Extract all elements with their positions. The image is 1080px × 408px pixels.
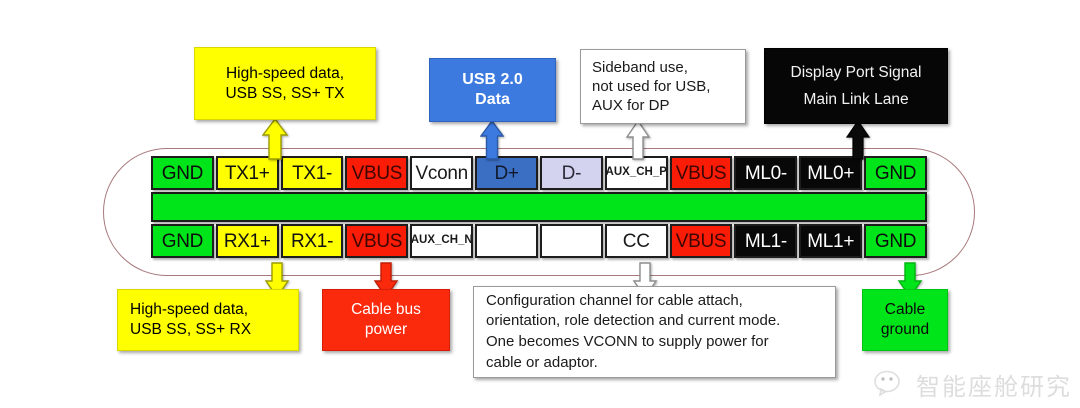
diagram-canvas: High-speed data, USB SS, SS+ TX USB 2.0 … [0,0,1080,408]
pin-cell: GND [151,224,214,258]
pin-cell: ML0- [734,156,797,190]
callout-displayport-main-link: Display Port Signal Main Link Lane [764,48,948,124]
pin-cell: RX1- [281,224,344,258]
pin-cell: Vconn [410,156,473,190]
callout-cable-bus-power: Cable bus power [322,289,450,351]
connector-shield-bar [151,192,927,222]
pin-cell: VBUS [345,156,408,190]
pin-row-bottom: GNDRX1+RX1-VBUSAUX_CH_NCCVBUSML1-ML1+GND [151,224,927,258]
callout-high-speed-tx: High-speed data, USB SS, SS+ TX [194,47,376,120]
wechat-icon [874,370,908,400]
callout-line: Display Port Signal [791,63,922,83]
callout-line: Main Link Lane [803,90,908,110]
pin-cell: D+ [475,156,538,190]
callout-line: High-speed data, [226,64,344,84]
callout-high-speed-rx: High-speed data, USB SS, SS+ RX [117,289,299,351]
pin-cell: AUX_CH_N [410,224,473,258]
callout-line: AUX for DP [592,96,670,115]
callout-line: Configuration channel for cable attach, [486,291,743,312]
pin-cell: ML0+ [799,156,862,190]
callout-line: Cable bus [351,300,421,320]
callout-line: Cable [885,300,926,320]
pin-cell: VBUS [670,156,733,190]
watermark: 智能座舱研究 [874,367,1072,402]
pin-cell [475,224,538,258]
arrow-up-tx [262,118,288,160]
pin-cell: ML1+ [799,224,862,258]
callout-line: USB 2.0 [462,70,522,90]
pin-cell: VBUS [345,224,408,258]
pin-cell: GND [864,224,927,258]
callout-usb20-data: USB 2.0 Data [429,58,556,122]
pin-cell: VBUS [670,224,733,258]
pin-cell [540,224,603,258]
pin-cell: AUX_CH_P [605,156,668,190]
pin-cell: D- [540,156,603,190]
arrow-up-sideband [625,120,651,160]
callout-line: not used for USB, [592,77,710,96]
callout-configuration-channel: Configuration channel for cable attach, … [473,286,836,378]
arrow-up-displayport [845,120,871,160]
callout-line: High-speed data, [130,300,248,320]
callout-line: Data [475,90,510,110]
pin-cell: CC [605,224,668,258]
callout-line: ground [881,320,929,340]
callout-line: USB SS, SS+ RX [130,320,251,340]
callout-cable-ground: Cable ground [862,289,948,351]
callout-line: cable or adaptor. [486,353,598,374]
pin-cell: TX1+ [216,156,279,190]
pin-cell: ML1- [734,224,797,258]
pin-cell: GND [864,156,927,190]
pin-row-top: GNDTX1+TX1-VBUSVconnD+D-AUX_CH_PVBUSML0-… [151,156,927,190]
arrow-up-usb20 [480,120,504,160]
callout-line: power [365,320,407,340]
pin-table: GNDTX1+TX1-VBUSVconnD+D-AUX_CH_PVBUSML0-… [151,156,927,260]
watermark-text: 智能座舱研究 [916,367,1072,402]
callout-line: Sideband use, [592,58,688,77]
pin-cell: GND [151,156,214,190]
pin-cell: TX1- [281,156,344,190]
callout-sideband-use: Sideband use, not used for USB, AUX for … [580,49,746,124]
pin-cell: RX1+ [216,224,279,258]
callout-line: USB SS, SS+ TX [225,84,344,104]
callout-line: One becomes VCONN to supply power for [486,332,769,353]
callout-line: orientation, role detection and current … [486,311,780,332]
